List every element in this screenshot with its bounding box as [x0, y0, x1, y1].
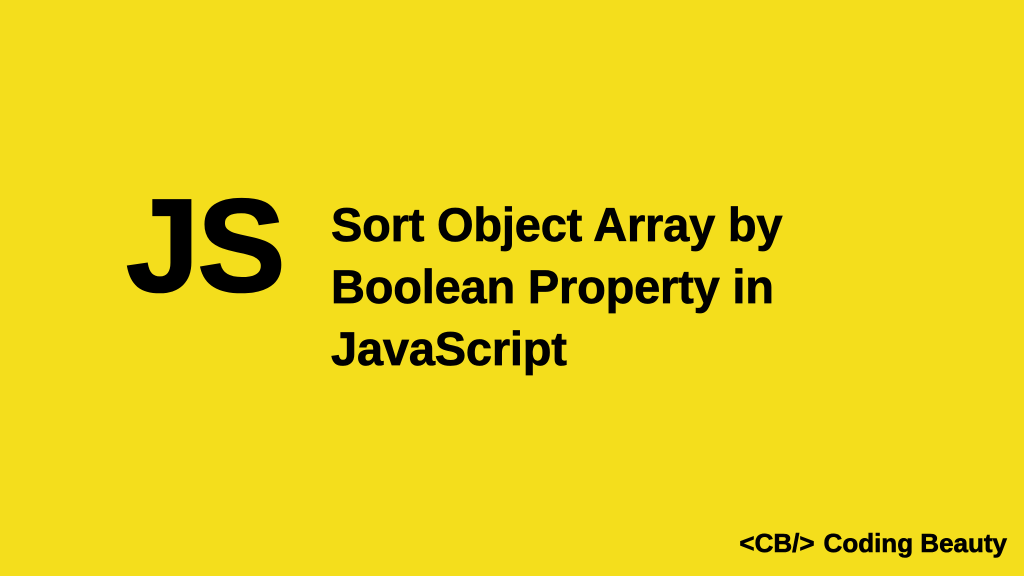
brand-watermark: <CB/> Coding Beauty [739, 528, 1007, 558]
page-title: Sort Object Array by Boolean Property in… [331, 186, 782, 380]
title-line-3: JavaScript [331, 318, 782, 380]
banner-composition: JS Sort Object Array by Boolean Property… [0, 186, 1024, 380]
title-line-1: Sort Object Array by [331, 194, 782, 256]
javascript-logo: JS [126, 186, 286, 306]
title-line-2: Boolean Property in [331, 256, 782, 318]
banner-canvas: JS Sort Object Array by Boolean Property… [0, 0, 1024, 576]
code-brackets-icon: <CB/> [739, 528, 814, 558]
brand-name-label: Coding Beauty [824, 528, 1007, 558]
